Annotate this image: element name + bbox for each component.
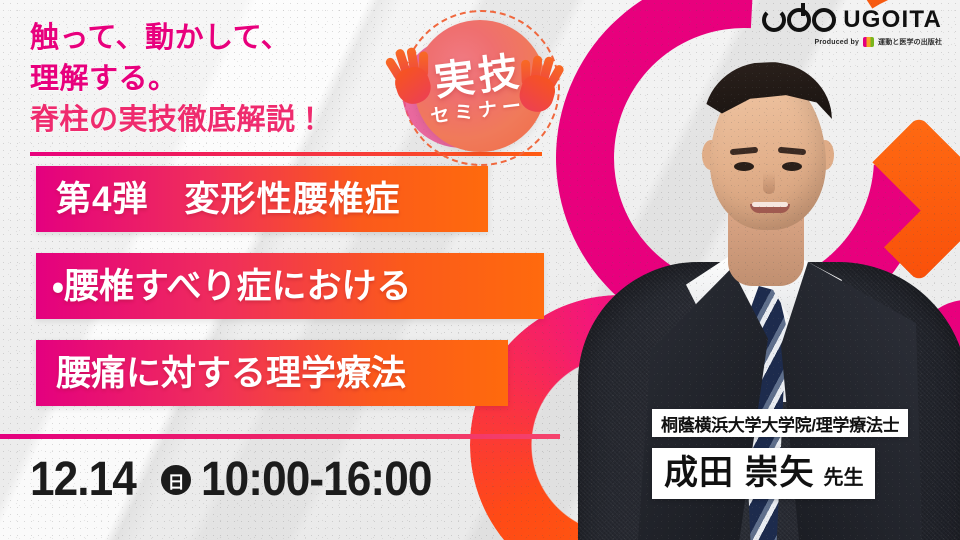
- publisher-logo-icon: [863, 37, 874, 47]
- title-bar-1: 第4弾 変形性腰椎症: [36, 166, 488, 232]
- produced-by-label: Produced by: [814, 39, 859, 46]
- speaker-name: 成田 崇矢: [664, 448, 814, 499]
- publisher-name: 運動と医学の出版社: [878, 37, 942, 47]
- ugo-mark-icon: [762, 8, 836, 32]
- speaker-affiliation-box: 桐蔭横浜大学大学院/理学療法士: [652, 409, 908, 437]
- seminar-badge: 実技 セミナー: [388, 8, 568, 168]
- speaker-eye-left: [734, 162, 754, 171]
- schedule: 12.14 日 10:00-16:00: [30, 452, 452, 508]
- speaker-eye-right: [782, 162, 802, 171]
- headline-line-1: 触って、動かして、: [30, 18, 450, 59]
- speaker-affiliation: 桐蔭横浜大学大学院/理学療法士: [661, 411, 899, 436]
- ugoita-logo: UGOITA Produced by 運動と医学の出版社: [762, 8, 942, 47]
- title-bar-3: 腰痛に対する理学療法: [36, 340, 508, 406]
- schedule-date: 12.14: [30, 456, 136, 504]
- seminar-banner: 触って、動かして、 理解する。 脊柱の実技徹底解説！ 実技 セミナー 第4弾 変…: [0, 0, 960, 540]
- title-bar-2: ・腰椎すべり症における: [36, 253, 544, 319]
- speaker-teeth: [752, 202, 788, 207]
- title-bar-1-text: 第4弾 変形性腰椎症: [36, 182, 400, 217]
- weekday-badge: 日: [161, 465, 191, 495]
- title-bar-2-text: ・腰椎すべり症における: [36, 269, 411, 304]
- ugoita-wordmark: UGOITA: [843, 8, 942, 32]
- speaker-nose: [763, 172, 775, 194]
- schedule-time: 10:00-16:00: [201, 456, 431, 504]
- schedule-divider: [0, 434, 560, 439]
- title-bar-3-text: 腰痛に対する理学療法: [36, 356, 406, 391]
- speaker-name-box: 成田 崇矢 先生: [652, 448, 875, 499]
- speaker-honorific: 先生: [823, 453, 863, 504]
